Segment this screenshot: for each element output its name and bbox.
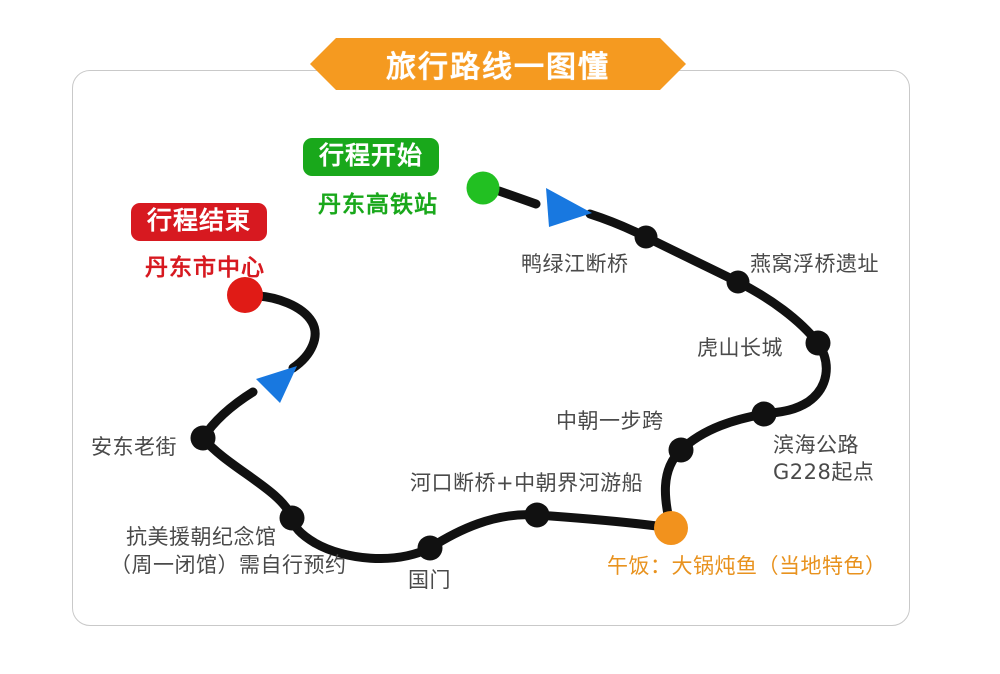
title-banner: 旅行路线一图懂 [310, 38, 686, 90]
stop-label-hekou: 河口断桥+中朝界河游船 [410, 470, 643, 498]
page-title: 旅行路线一图懂 [310, 38, 686, 90]
start-place-label: 丹东高铁站 [318, 185, 438, 219]
stop-label-yanwo: 燕窝浮桥遗址 [750, 251, 879, 279]
stop-label-guomen: 国门 [408, 567, 451, 595]
stop-label-g228: G228起点 [773, 459, 874, 487]
stop-label-andong: 安东老街 [91, 434, 177, 462]
status-badge-start: 行程开始 [303, 138, 439, 176]
stop-label-yibukua: 中朝一步跨 [556, 408, 664, 436]
stop-label-hushan: 虎山长城 [697, 335, 783, 363]
status-badge-end: 行程结束 [131, 203, 267, 241]
end-place-label: 丹东市中心 [145, 248, 265, 282]
stop-label-binhai: 滨海公路 [773, 432, 859, 460]
stop-label-memorial: 抗美援朝纪念馆 [126, 524, 277, 552]
stop-label-yalujiang: 鸭绿江断桥 [521, 251, 629, 279]
stop-label-memorial-note: （周一闭馆）需自行预约 [110, 552, 347, 580]
stop-label-lunch: 午饭：大锅炖鱼（当地特色） [607, 553, 887, 581]
